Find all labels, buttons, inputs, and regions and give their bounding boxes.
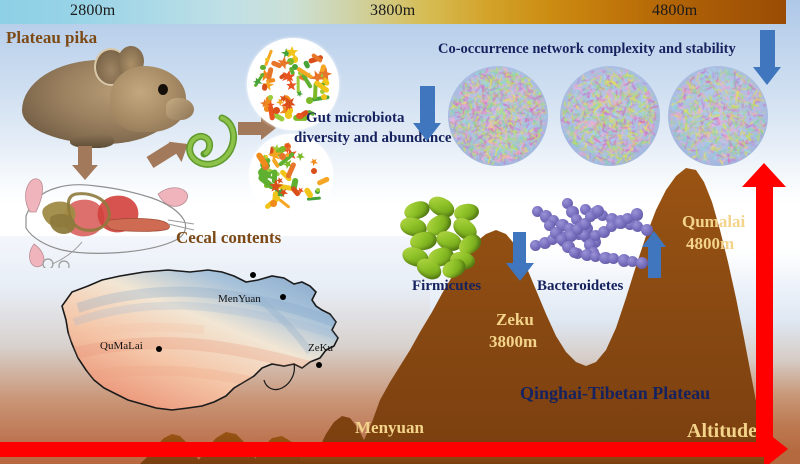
arrow-pika-to-anatomy-shaft xyxy=(78,146,92,166)
qinghai-province-elevation-map: MenYuan QuMaLai ZeKu xyxy=(58,258,358,416)
microbe-glyph xyxy=(260,65,265,70)
map-dot-qumalai xyxy=(156,346,162,352)
graphical-abstract: 2800m 3800m 4800m Plateau pika xyxy=(0,0,800,464)
peak-label-zeku-name: Zeku xyxy=(496,310,534,330)
peak-label-menyuan-name: Menyuan xyxy=(355,418,424,438)
map-label-menyuan: MenYuan xyxy=(218,293,261,305)
altitude-tick-4800: 4800m xyxy=(652,2,697,20)
microbe-glyph xyxy=(270,200,277,207)
microbe-glyph xyxy=(294,151,307,164)
microbe-glyph xyxy=(311,168,318,175)
microbe-glyph xyxy=(285,111,292,118)
microbe-glyph xyxy=(268,95,273,100)
plateau-name-label: Qinghai-Tibetan Plateau xyxy=(520,383,710,404)
arrow-cecum-to-microbiota-shaft xyxy=(238,122,262,135)
microbe-glyph xyxy=(309,157,320,168)
plateau-pika-photo xyxy=(18,42,198,150)
network-circle-2 xyxy=(560,66,660,166)
map-dot-menyuan-2 xyxy=(250,272,256,278)
map-dot-menyuan xyxy=(280,294,286,300)
bacteroidetes-coccus xyxy=(569,247,580,258)
microbe-glyph xyxy=(317,176,331,185)
pika-anatomy-diagram xyxy=(18,172,198,268)
altitude-tick-3800: 3800m xyxy=(370,2,415,20)
gut-microbiota-label-line1: Gut microbiota xyxy=(306,110,404,127)
bacteroidetes-up-arrow-shaft xyxy=(648,246,661,278)
gut-microbiota-down-arrow-shaft xyxy=(420,86,435,124)
microbe-glyph xyxy=(265,58,268,61)
network-circle-1 xyxy=(448,66,548,166)
bacteroidetes-coccus xyxy=(636,257,648,269)
altitude-horizontal-arrow-shaft xyxy=(0,442,770,457)
microbe-glyph xyxy=(273,107,280,114)
firmicutes-label: Firmicutes xyxy=(412,278,481,295)
gut-microbiota-down-arrow-head xyxy=(413,123,441,141)
map-label-qumalai: QuMaLai xyxy=(100,340,143,352)
bacteroidetes-coccus xyxy=(631,208,643,220)
peak-label-qumalai-elev: 4800m xyxy=(686,234,734,254)
altitude-tick-2800: 2800m xyxy=(70,2,115,20)
map-label-zeku: ZeKu xyxy=(308,342,333,354)
bacteroidetes-label: Bacteroidetes xyxy=(537,278,623,295)
microbe-glyph xyxy=(279,198,291,208)
firmicutes-bacteria-cluster xyxy=(398,198,494,274)
microbe-glyph xyxy=(306,97,313,104)
peak-label-qumalai-name: Qumalai xyxy=(682,212,745,232)
bacteroidetes-up-arrow-head xyxy=(642,231,666,247)
map-dot-zeku xyxy=(316,362,322,368)
altitude-vertical-arrow-shaft xyxy=(756,182,773,450)
altitude-axis-label: Altitude xyxy=(687,420,757,443)
cecum-illustration xyxy=(182,112,242,174)
network-title: Co-occurrence network complexity and sta… xyxy=(438,41,736,58)
microbe-glyph xyxy=(290,185,301,197)
network-down-arrow-shaft xyxy=(760,30,775,68)
bacteroidetes-bacteria-cluster xyxy=(528,196,640,278)
altitude-vertical-arrow-head xyxy=(742,163,786,187)
network-down-arrow-head xyxy=(753,67,781,85)
microbe-glyph xyxy=(262,83,267,90)
firmicutes-down-arrow-shaft xyxy=(513,232,526,264)
cecal-contents-label: Cecal contents xyxy=(176,228,281,248)
altitude-horizontal-arrow-head xyxy=(764,430,788,464)
peak-label-zeku-elev: 3800m xyxy=(489,332,537,352)
